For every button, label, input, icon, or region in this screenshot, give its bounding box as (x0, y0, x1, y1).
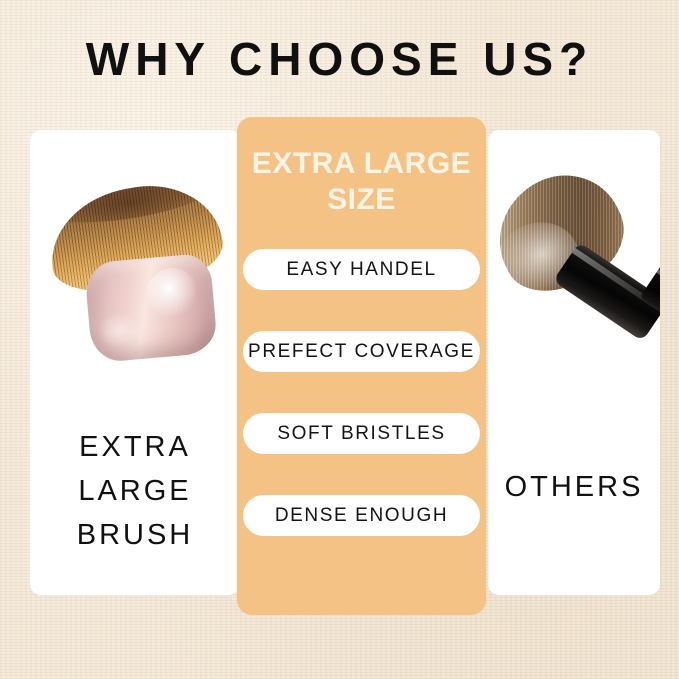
left-label-line-3: BRUSH (30, 513, 240, 557)
left-label-line-2: LARGE (30, 469, 240, 513)
left-product-panel: EXTRA LARGE BRUSH (30, 130, 240, 595)
powder-brush-image (488, 130, 660, 595)
feature-pill: EASY HANDEL (243, 249, 480, 290)
page-title: WHY CHOOSE US? (0, 33, 679, 85)
feature-pill-label: EASY HANDEL (286, 259, 436, 281)
center-feature-panel: EXTRA LARGE SIZE EASY HANDEL PREFECT COV… (237, 117, 486, 615)
center-panel-heading: EXTRA LARGE SIZE (247, 146, 476, 218)
feature-pill: SOFT BRISTLES (243, 413, 480, 454)
left-label-line-1: EXTRA (30, 425, 240, 469)
kabuki-brush-image (42, 178, 228, 363)
feature-pill-label: PREFECT COVERAGE (248, 341, 475, 363)
left-panel-label: EXTRA LARGE BRUSH (30, 425, 240, 557)
feature-pill-label: DENSE ENOUGH (275, 505, 448, 527)
right-product-panel: OTHERS (488, 130, 660, 595)
feature-pill: PREFECT COVERAGE (243, 331, 480, 372)
kabuki-handle (84, 253, 218, 364)
right-panel-label: OTHERS (488, 465, 660, 509)
feature-pill-list: EASY HANDEL PREFECT COVERAGE SOFT BRISTL… (243, 249, 480, 577)
feature-pill-label: SOFT BRISTLES (277, 423, 445, 445)
feature-pill: DENSE ENOUGH (243, 495, 480, 536)
